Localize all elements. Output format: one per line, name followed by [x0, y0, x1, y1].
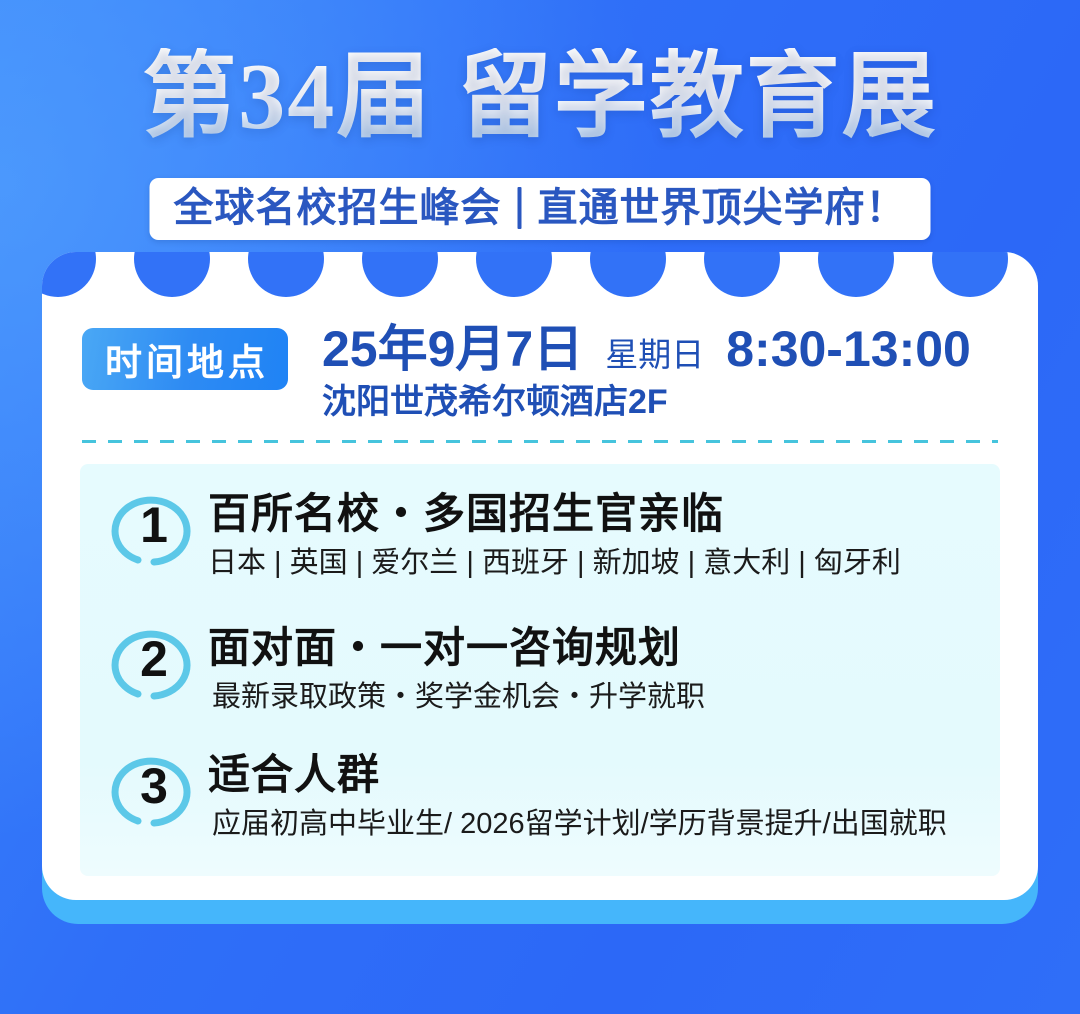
event-time-range: 8:30-13:00	[726, 324, 971, 374]
time-location-label-badge: 时间地点	[82, 328, 288, 390]
poster-header: 第34届 留学教育展 全球名校招生峰会 直通世界顶尖学府！	[0, 0, 1080, 252]
highlight-item: 2 面对面・一对一咨询规划 最新录取政策・奖学金机会・升学就职	[108, 622, 988, 715]
subtitle-right: 直通世界顶尖学府！	[538, 185, 907, 231]
event-weekday: 星期日	[605, 340, 704, 373]
highlight-title: 百所名校・多国招生官亲临	[208, 490, 901, 538]
dashed-divider	[82, 440, 998, 443]
page-title: 第34届 留学教育展	[0, 48, 1080, 147]
number-circle-icon: 1	[108, 488, 200, 566]
event-date-row: 25年9月7日 星期日 8:30-13:00	[322, 324, 971, 374]
card-content: 时间地点 25年9月7日 星期日 8:30-13:00 沈阳世茂希尔顿酒店2F	[42, 252, 1038, 900]
highlight-text: 面对面・一对一咨询规划 最新录取政策・奖学金机会・升学就职	[208, 622, 705, 715]
event-time-location-block: 时间地点 25年9月7日 星期日 8:30-13:00 沈阳世茂希尔顿酒店2F	[82, 324, 971, 421]
event-date: 25年9月7日	[322, 324, 583, 374]
highlight-item: 1 百所名校・多国招生官亲临 日本 | 英国 | 爱尔兰 | 西班牙 | 新加坡…	[108, 488, 988, 581]
highlight-title: 适合人群	[208, 751, 947, 799]
highlight-item: 3 适合人群 应届初高中毕业生/ 2026留学计划/学历背景提升/出国就职	[108, 749, 988, 842]
title-edition: 第34届	[142, 45, 432, 149]
highlight-subtitle: 应届初高中毕业生/ 2026留学计划/学历背景提升/出国就职	[208, 807, 947, 842]
title-main: 留学教育展	[458, 45, 938, 149]
highlight-subtitle: 最新录取政策・奖学金机会・升学就职	[208, 680, 705, 715]
highlight-title: 面对面・一对一咨询规划	[208, 624, 705, 672]
poster-root: 第34届 留学教育展 全球名校招生峰会 直通世界顶尖学府！	[0, 0, 1080, 1014]
event-venue: 沈阳世茂希尔顿酒店2F	[322, 384, 971, 421]
number-circle-icon: 3	[108, 749, 200, 827]
subtitle-divider-icon	[518, 187, 522, 229]
highlight-number: 1	[108, 488, 200, 566]
highlights-panel: 1 百所名校・多国招生官亲临 日本 | 英国 | 爱尔兰 | 西班牙 | 新加坡…	[80, 464, 1000, 876]
highlight-subtitle: 日本 | 英国 | 爱尔兰 | 西班牙 | 新加坡 | 意大利 | 匈牙利	[208, 546, 901, 581]
highlight-text: 百所名校・多国招生官亲临 日本 | 英国 | 爱尔兰 | 西班牙 | 新加坡 |…	[208, 488, 901, 581]
highlight-number: 3	[108, 749, 200, 827]
highlight-text: 适合人群 应届初高中毕业生/ 2026留学计划/学历背景提升/出国就职	[208, 749, 947, 842]
highlight-number: 2	[108, 622, 200, 700]
info-card: 时间地点 25年9月7日 星期日 8:30-13:00 沈阳世茂希尔顿酒店2F	[42, 252, 1038, 900]
info-card-wrapper: 时间地点 25年9月7日 星期日 8:30-13:00 沈阳世茂希尔顿酒店2F	[42, 252, 1038, 924]
event-details: 25年9月7日 星期日 8:30-13:00 沈阳世茂希尔顿酒店2F	[322, 324, 971, 421]
subtitle-badge: 全球名校招生峰会 直通世界顶尖学府！	[150, 178, 931, 240]
number-circle-icon: 2	[108, 622, 200, 700]
subtitle-left: 全球名校招生峰会	[174, 185, 502, 231]
